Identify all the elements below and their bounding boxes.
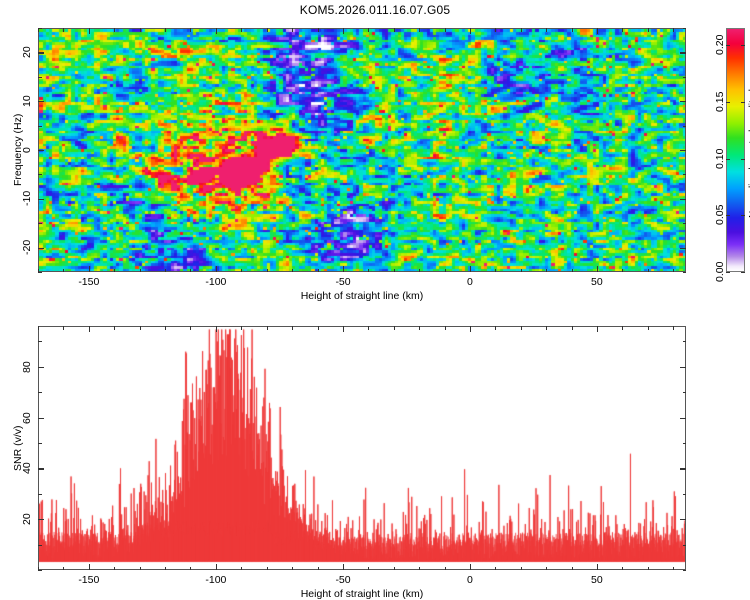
- axis-tick: [394, 269, 395, 273]
- axis-tick: [597, 326, 598, 332]
- axis-tick: [343, 28, 344, 34]
- axis-tick: [318, 326, 319, 330]
- axis-tick: [683, 28, 687, 29]
- axis-tick-label: 80: [21, 361, 33, 373]
- axis-tick-label: 20: [21, 513, 33, 525]
- axis-tick: [241, 269, 242, 273]
- axis-tick: [38, 272, 42, 273]
- axis-tick: [165, 269, 166, 273]
- axis-tick-label: 0.20: [714, 35, 726, 55]
- spectrogram-x-axis-label: Height of straight line (km): [38, 290, 686, 302]
- axis-tick: [267, 567, 268, 571]
- axis-tick: [741, 215, 745, 216]
- axis-tick: [63, 567, 64, 571]
- axis-tick: [622, 326, 623, 330]
- axis-tick: [673, 269, 674, 273]
- axis-tick: [726, 215, 730, 216]
- axis-tick: [470, 266, 471, 272]
- axis-tick: [368, 269, 369, 273]
- axis-tick-label: -10: [21, 191, 33, 206]
- axis-tick: [38, 223, 42, 224]
- axis-tick: [445, 269, 446, 273]
- axis-tick: [495, 28, 496, 32]
- axis-tick: [140, 269, 141, 273]
- axis-tick: [673, 326, 674, 330]
- axis-tick-label: 0: [467, 276, 473, 288]
- colorbar: [726, 28, 745, 272]
- axis-tick: [726, 102, 730, 103]
- axis-tick: [114, 28, 115, 32]
- axis-tick: [38, 519, 44, 520]
- axis-tick: [419, 326, 420, 330]
- axis-tick: [546, 269, 547, 273]
- axis-tick: [683, 494, 687, 495]
- axis-tick: [190, 567, 191, 571]
- axis-tick: [680, 367, 686, 368]
- axis-tick: [419, 269, 420, 273]
- axis-tick: [38, 570, 42, 571]
- axis-tick-label: -100: [205, 574, 226, 586]
- axis-tick: [495, 269, 496, 273]
- axis-tick: [680, 150, 686, 151]
- axis-tick: [445, 28, 446, 32]
- axis-tick-label: 10: [21, 96, 33, 108]
- axis-tick: [216, 266, 217, 272]
- axis-tick: [572, 567, 573, 571]
- axis-tick: [572, 269, 573, 273]
- axis-tick: [622, 567, 623, 571]
- axis-tick: [546, 326, 547, 330]
- axis-tick: [597, 28, 598, 34]
- axis-tick: [216, 28, 217, 34]
- axis-tick: [394, 567, 395, 571]
- axis-tick: [38, 248, 44, 249]
- axis-tick: [521, 269, 522, 273]
- axis-tick: [495, 567, 496, 571]
- axis-tick: [680, 52, 686, 53]
- axis-tick-label: 20: [21, 47, 33, 59]
- axis-tick: [165, 567, 166, 571]
- axis-tick: [318, 567, 319, 571]
- axis-tick: [741, 45, 745, 46]
- axis-tick: [343, 564, 344, 570]
- axis-tick: [683, 392, 687, 393]
- axis-tick: [241, 326, 242, 330]
- axis-tick-label: -50: [335, 276, 350, 288]
- axis-tick: [680, 418, 686, 419]
- axis-tick: [292, 28, 293, 32]
- axis-tick: [216, 564, 217, 570]
- axis-tick: [140, 28, 141, 32]
- axis-tick: [343, 266, 344, 272]
- axis-tick-label: 0.05: [714, 205, 726, 225]
- axis-tick-label: -100: [205, 276, 226, 288]
- axis-tick: [741, 102, 745, 103]
- axis-tick: [38, 443, 42, 444]
- axis-tick: [680, 519, 686, 520]
- axis-tick: [63, 326, 64, 330]
- axis-tick: [648, 326, 649, 330]
- axis-tick: [648, 269, 649, 273]
- axis-tick: [318, 269, 319, 273]
- axis-tick: [470, 28, 471, 34]
- axis-tick-label: 40: [21, 463, 33, 475]
- axis-tick: [680, 468, 686, 469]
- axis-tick: [38, 150, 44, 151]
- axis-tick: [38, 392, 42, 393]
- axis-tick: [190, 269, 191, 273]
- axis-tick: [190, 28, 191, 32]
- snr-x-axis-label: Height of straight line (km): [38, 588, 686, 600]
- axis-tick: [648, 28, 649, 32]
- axis-tick: [683, 126, 687, 127]
- axis-tick: [114, 269, 115, 273]
- axis-tick: [546, 28, 547, 32]
- axis-tick: [683, 272, 687, 273]
- axis-tick: [343, 326, 344, 332]
- axis-tick: [38, 174, 42, 175]
- axis-tick: [673, 567, 674, 571]
- axis-tick: [683, 443, 687, 444]
- axis-tick-label: 0.10: [714, 148, 726, 168]
- axis-tick: [38, 341, 42, 342]
- axis-tick-label: 50: [591, 276, 603, 288]
- axis-tick-label: -150: [78, 574, 99, 586]
- axis-tick: [38, 367, 44, 368]
- axis-tick: [267, 326, 268, 330]
- axis-tick: [114, 567, 115, 571]
- axis-tick-label: 50: [591, 574, 603, 586]
- axis-tick: [394, 326, 395, 330]
- axis-tick: [597, 266, 598, 272]
- axis-tick: [683, 545, 687, 546]
- spectrogram-panel: [38, 28, 686, 272]
- axis-tick: [241, 28, 242, 32]
- axis-tick: [726, 272, 730, 273]
- figure-title: KOM5.2026.011.16.07.G05: [0, 3, 750, 17]
- spectrogram-image: [39, 29, 685, 271]
- axis-tick: [419, 567, 420, 571]
- axis-tick: [38, 52, 44, 53]
- axis-tick: [368, 28, 369, 32]
- axis-tick: [63, 269, 64, 273]
- axis-tick: [394, 28, 395, 32]
- axis-tick: [445, 567, 446, 571]
- figure-root: KOM5.2026.011.16.07.G05 Frequency (Hz) H…: [0, 0, 750, 600]
- axis-tick: [318, 28, 319, 32]
- axis-tick: [165, 28, 166, 32]
- axis-tick: [292, 269, 293, 273]
- axis-tick: [292, 326, 293, 330]
- axis-tick: [216, 326, 217, 332]
- axis-tick: [38, 545, 42, 546]
- axis-tick: [741, 272, 745, 273]
- axis-tick: [38, 199, 44, 200]
- axis-tick: [38, 77, 42, 78]
- axis-tick: [521, 567, 522, 571]
- axis-tick: [648, 567, 649, 571]
- axis-tick: [597, 564, 598, 570]
- axis-tick: [38, 418, 44, 419]
- axis-tick-label: 0.15: [714, 91, 726, 111]
- axis-tick: [38, 326, 39, 330]
- axis-tick-label: -150: [78, 276, 99, 288]
- axis-tick: [368, 567, 369, 571]
- axis-tick: [521, 28, 522, 32]
- axis-tick: [680, 199, 686, 200]
- axis-tick: [89, 266, 90, 272]
- axis-tick: [445, 326, 446, 330]
- axis-tick: [546, 567, 547, 571]
- axis-tick: [470, 326, 471, 332]
- axis-tick: [683, 174, 687, 175]
- snr-trace: [39, 327, 685, 569]
- axis-tick: [622, 28, 623, 32]
- axis-tick: [190, 326, 191, 330]
- axis-tick: [680, 101, 686, 102]
- axis-tick: [165, 326, 166, 330]
- axis-tick: [572, 326, 573, 330]
- axis-tick: [726, 45, 730, 46]
- axis-tick: [89, 28, 90, 34]
- axis-tick-label: 60: [21, 412, 33, 424]
- axis-tick: [470, 564, 471, 570]
- axis-tick: [683, 570, 687, 571]
- axis-tick: [114, 326, 115, 330]
- axis-tick: [292, 567, 293, 571]
- axis-tick: [419, 28, 420, 32]
- axis-tick: [267, 269, 268, 273]
- axis-tick: [89, 326, 90, 332]
- axis-tick: [140, 567, 141, 571]
- axis-tick: [726, 159, 730, 160]
- axis-tick: [241, 567, 242, 571]
- axis-tick: [38, 468, 44, 469]
- axis-tick: [683, 341, 687, 342]
- axis-tick: [38, 101, 44, 102]
- axis-tick: [140, 326, 141, 330]
- axis-tick: [63, 28, 64, 32]
- axis-tick: [741, 159, 745, 160]
- axis-tick: [680, 248, 686, 249]
- snr-panel: [38, 326, 686, 570]
- axis-tick-label: 0.00: [714, 262, 726, 282]
- axis-tick-label: 0: [467, 574, 473, 586]
- axis-tick-label: -20: [21, 240, 33, 255]
- axis-tick: [38, 28, 42, 29]
- axis-tick-label: 0: [21, 147, 33, 153]
- axis-tick-label: -50: [335, 574, 350, 586]
- axis-tick: [38, 494, 42, 495]
- axis-tick: [521, 326, 522, 330]
- axis-tick: [38, 126, 42, 127]
- axis-tick: [89, 564, 90, 570]
- axis-tick: [673, 28, 674, 32]
- axis-tick: [368, 326, 369, 330]
- axis-tick: [495, 326, 496, 330]
- axis-tick: [572, 28, 573, 32]
- axis-tick: [267, 28, 268, 32]
- axis-tick: [622, 269, 623, 273]
- axis-tick: [683, 223, 687, 224]
- axis-tick: [683, 77, 687, 78]
